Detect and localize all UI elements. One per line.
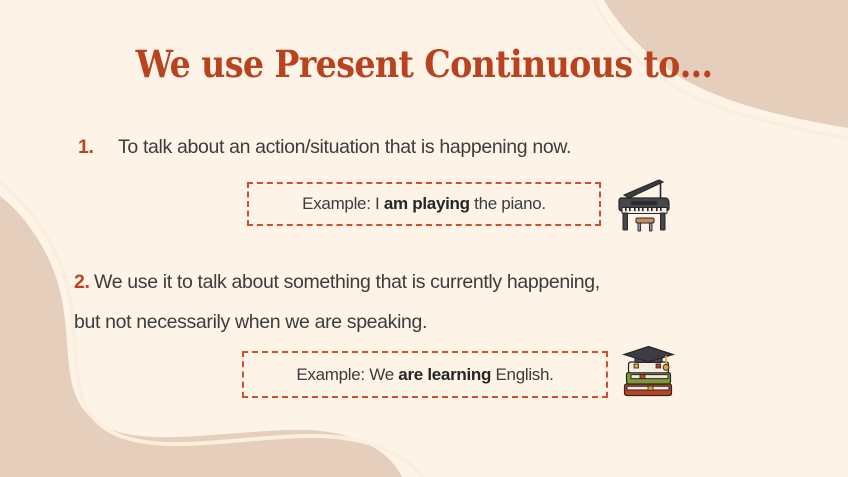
- piano-music-desk: [631, 201, 657, 205]
- example-1-highlight: am playing: [384, 194, 470, 213]
- list-item-2-text-line-2: but not necessarily when we are speaking…: [74, 313, 427, 333]
- book-middle-green: [627, 373, 671, 385]
- book-bottom-red: [625, 384, 672, 396]
- list-item-2: 2. We use it to talk about something tha…: [74, 273, 600, 293]
- example-2-suffix: English.: [491, 365, 554, 384]
- list-item-1-number: 1.: [78, 138, 118, 158]
- grand-piano-icon: [615, 177, 677, 233]
- example-box-1: Example: I am playing the piano.: [247, 182, 601, 226]
- example-box-2: Example: We are learning English.: [242, 351, 608, 398]
- book-top-cream: [629, 362, 669, 373]
- list-item-1: 1. To talk about an action/situation tha…: [78, 138, 571, 158]
- list-item-2-number: 2.: [74, 271, 90, 293]
- list-item-2-text-line-1: We use it to talk about something that i…: [94, 271, 600, 293]
- example-box-2-text: Example: We are learning English.: [296, 365, 553, 385]
- example-2-highlight: are learning: [398, 365, 491, 384]
- list-item-1-text: To talk about an action/situation that i…: [118, 138, 571, 158]
- example-2-prefix: Example: We: [296, 365, 398, 384]
- example-1-prefix: Example: I: [302, 194, 384, 213]
- piano-bench: [636, 218, 654, 231]
- piano-lid: [624, 180, 663, 198]
- piano-black-keys: [625, 208, 662, 212]
- example-box-1-text: Example: I am playing the piano.: [302, 194, 546, 214]
- stack-of-books-with-graduation-cap-icon: [622, 343, 676, 401]
- slide-content: 1. To talk about an action/situation tha…: [0, 0, 848, 477]
- example-1-suffix: the piano.: [470, 194, 546, 213]
- slide: We use Present Continuous to… 1. To talk…: [0, 0, 848, 477]
